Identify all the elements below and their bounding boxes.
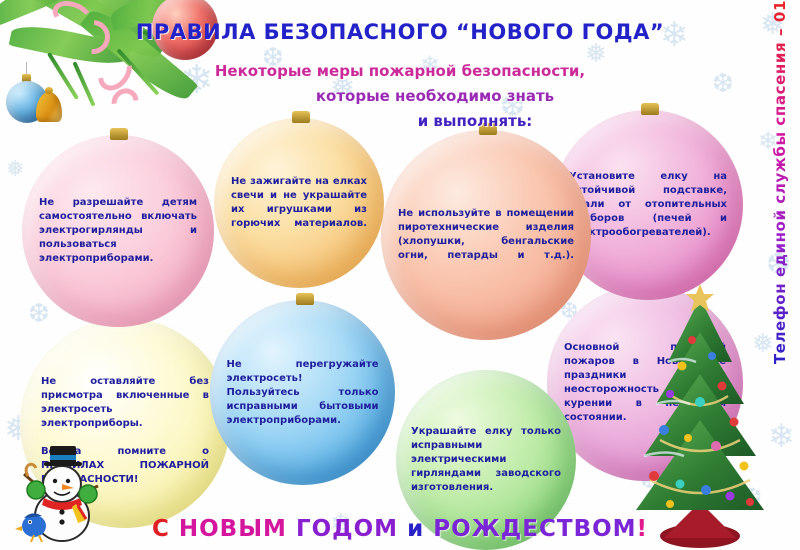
greeting-word-5: РОЖДЕСТВОМ	[433, 516, 636, 542]
ornament-cap	[296, 293, 314, 305]
snowflake-icon: ❅	[6, 158, 24, 180]
emergency-phone-text: Телефон единой службы спасения – 01	[771, 0, 789, 364]
bubble-text: Не разрешайте детям самостоятельно включ…	[39, 196, 197, 266]
subtitle-line-3: и выполнять:	[150, 112, 650, 130]
emergency-phone-note: Телефон единой службы спасения – 01	[762, 0, 798, 540]
greeting-word-1: С	[152, 516, 170, 542]
bubble-text: Украшайте елку только исправными электри…	[411, 425, 561, 495]
poster-canvas: ❄ ❅ ❆ ❅ ❄ ❆ ❅ ❄ ❆ ❅ ❄ ❆ ❅ ❄ ❆ ❅ ❄ ❆ ❅ ❄ …	[0, 0, 800, 550]
bubble-children-electric: Не разрешайте детям самостоятельно включ…	[22, 135, 214, 327]
subtitle-line-1: Некоторые меры пожарной безопасности,	[150, 62, 650, 80]
greeting-banner: С НОВЫМ ГОДОМ и РОЖДЕСТВОМ!	[0, 516, 800, 542]
greeting-word-3: ГОДОМ	[296, 516, 398, 542]
bubble-text: Не оставляйте без присмотра включенные в…	[41, 375, 209, 431]
greeting-word-6: !	[637, 516, 649, 542]
snowflake-icon: ❆	[712, 70, 734, 96]
bubble-candles-toys: Не зажигайте на елках свечи и не украшай…	[214, 118, 384, 288]
ornament-cap	[110, 128, 128, 140]
page-title: ПРАВИЛА БЕЗОПАСНОГО “НОВОГО ГОДА”	[0, 20, 800, 44]
bubble-text: Установите елку на устойчивой подставке,…	[569, 170, 727, 240]
subtitle-line-2: которые необходимо знать	[150, 87, 650, 105]
greeting-word-4: и	[407, 516, 424, 542]
bubble-pyrotechnics: Не используйте в помещении пиротехническ…	[381, 130, 591, 340]
christmas-tree	[630, 280, 770, 550]
snowflake-icon: ❆	[28, 300, 50, 326]
greeting-word-2: НОВЫМ	[179, 516, 287, 542]
bubble-overload: Не перегружайте электросеть! Пользуйтесь…	[210, 300, 395, 485]
bubble-text: Не перегружайте электросеть! Пользуйтесь…	[227, 358, 379, 428]
bubble-text: Не используйте в помещении пиротехническ…	[398, 207, 574, 263]
bubble-text: Не зажигайте на елках свечи и не украшай…	[231, 175, 367, 231]
